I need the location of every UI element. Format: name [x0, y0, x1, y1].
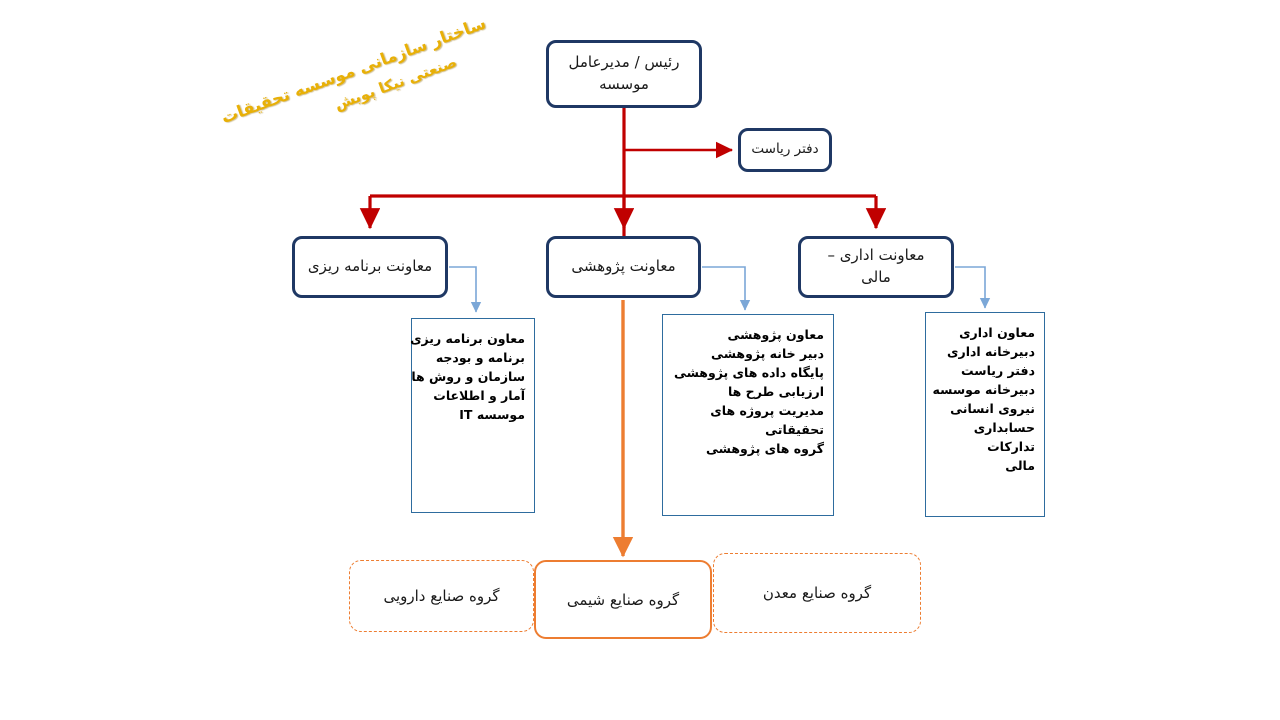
node-admin-deputy-line2: مالی	[827, 267, 924, 289]
list-admin-functions: معاون اداری دبیرخانه اداری دفتر ریاست دب…	[925, 312, 1045, 517]
list-item: گروه های پژوهشی	[672, 439, 824, 458]
group-chemical-label: گروه صنایع شیمی	[567, 591, 679, 609]
node-planning-deputy-label: معاونت برنامه ریزی	[308, 256, 432, 278]
list-item: معاون اداری	[935, 323, 1035, 342]
group-mining-industries[interactable]: گروه صنایع معدن	[713, 553, 921, 633]
group-mining-label: گروه صنایع معدن	[763, 584, 871, 602]
list-item: مدیریت پروژه های	[672, 401, 824, 420]
list-item: دفتر ریاست	[935, 361, 1035, 380]
node-presidency-office-label: دفتر ریاست	[751, 140, 818, 160]
node-research-deputy[interactable]: معاونت پژوهشی	[546, 236, 701, 298]
node-planning-deputy[interactable]: معاونت برنامه ریزی	[292, 236, 448, 298]
list-item: تحقیقاتی	[672, 420, 824, 439]
node-ceo[interactable]: رئیس / مدیرعامل موسسه	[546, 40, 702, 108]
list-item: نیروی انسانی	[935, 399, 1035, 418]
org-chart-canvas: ساختار سازمانی موسسه تحقیقات صنعتی نیکا …	[0, 0, 1280, 720]
connector-research-to-list	[702, 267, 745, 310]
node-presidency-office[interactable]: دفتر ریاست	[738, 128, 832, 172]
list-item: آمار و اطلاعات	[421, 386, 525, 405]
chart-title: ساختار سازمانی موسسه تحقیقات صنعتی نیکا …	[283, 10, 499, 132]
node-ceo-line1: رئیس / مدیرعامل	[569, 52, 680, 74]
node-admin-deputy-line1: معاونت اداری –	[827, 245, 924, 267]
group-pharmaceutical-industries[interactable]: گروه صنایع دارویی	[349, 560, 534, 632]
list-item: موسسه IT	[421, 405, 525, 424]
list-item: ارزیابی طرح ها	[672, 382, 824, 401]
node-ceo-line2: موسسه	[569, 74, 680, 96]
list-item: دبیرخانه موسسه	[935, 380, 1035, 399]
list-item: حسابداری	[935, 418, 1035, 437]
list-item: معاون برنامه ریزی	[421, 329, 525, 348]
node-research-deputy-label: معاونت پژوهشی	[571, 256, 675, 278]
group-chemical-industries[interactable]: گروه صنایع شیمی	[534, 560, 712, 639]
list-planning-functions: معاون برنامه ریزی برنامه و بودجه سازمان …	[411, 318, 535, 513]
list-item: پایگاه داده های پژوهشی	[672, 363, 824, 382]
list-item: برنامه و بودجه	[421, 348, 525, 367]
list-item: تدارکات	[935, 437, 1035, 456]
list-research-functions: معاون پژوهشی دبیر خانه پژوهشی پایگاه داد…	[662, 314, 834, 516]
connector-admin-to-list	[955, 267, 985, 308]
node-admin-deputy[interactable]: معاونت اداری – مالی	[798, 236, 954, 298]
list-item: سازمان و روش ها	[421, 367, 525, 386]
list-item: معاون پژوهشی	[672, 325, 824, 344]
list-item: دبیرخانه اداری	[935, 342, 1035, 361]
group-pharmaceutical-label: گروه صنایع دارویی	[383, 587, 499, 605]
list-item: دبیر خانه پژوهشی	[672, 344, 824, 363]
connector-planning-to-list	[449, 267, 476, 312]
list-item: مالی	[935, 456, 1035, 475]
